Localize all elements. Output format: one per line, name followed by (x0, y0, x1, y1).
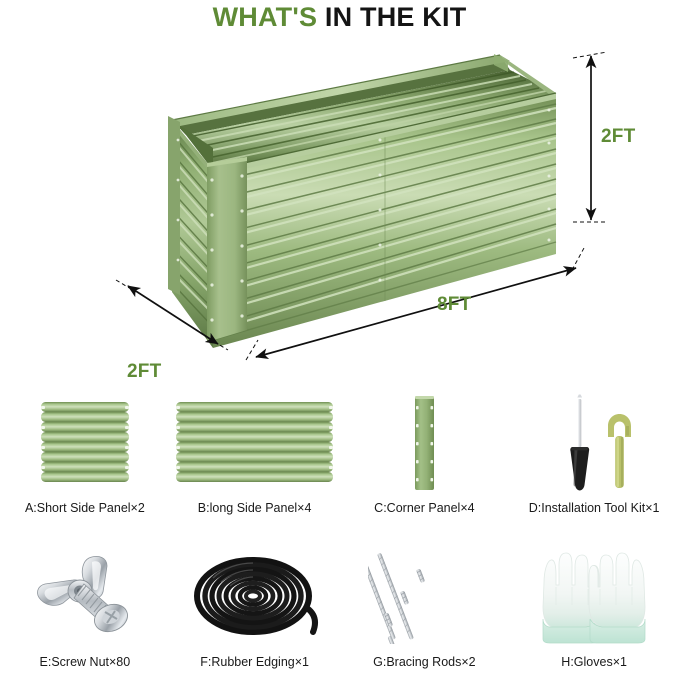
part-item-long-side-panel[interactable]: B:long Side Panel×4 (170, 388, 340, 518)
product-illustration: 2FT 8FT 2FT (0, 30, 679, 385)
corner-post-front-left (207, 157, 247, 342)
parts-row-1: A:Short Side Panel×2 (0, 388, 679, 518)
screw-nut-icon (0, 540, 170, 651)
gloves-icon (509, 540, 679, 651)
rod-long-2 (377, 552, 414, 639)
long-side-panel-icon (170, 388, 340, 497)
page-title: WHAT'S IN THE KIT (0, 2, 679, 33)
part-item-rubber-edging[interactable]: F:Rubber Edging×1 (170, 540, 340, 673)
part-label-rubber-edging: F:Rubber Edging×1 (200, 651, 309, 670)
rubber-edging-icon (170, 540, 340, 651)
part-item-screw-nut[interactable]: E:Screw Nut×80 (0, 540, 170, 673)
part-item-gloves[interactable]: H:Gloves×1 (509, 540, 679, 673)
part-label-short-side-panel: A:Short Side Panel×2 (25, 497, 145, 516)
part-item-corner-panel[interactable]: C:Corner Panel×4 (340, 388, 510, 518)
part-item-installation-tool-kit[interactable]: D:Installation Tool Kit×1 (509, 388, 679, 518)
corner-panel-icon (340, 388, 510, 497)
part-item-bracing-rods[interactable]: G:Bracing Rods×2 (340, 540, 510, 673)
glove-right (589, 553, 645, 643)
bracing-rods-icon (340, 540, 510, 651)
dimension-label-depth: 2FT (127, 361, 161, 383)
part-label-long-side-panel: B:long Side Panel×4 (198, 497, 312, 516)
short-side-panel-icon (0, 388, 170, 497)
page-title-highlight: WHAT'S (213, 2, 325, 32)
part-item-short-side-panel[interactable]: A:Short Side Panel×2 (0, 388, 170, 518)
corner-post-back-left (168, 116, 180, 295)
page-title-rest: IN THE KIT (325, 2, 467, 32)
part-label-gloves: H:Gloves×1 (561, 651, 627, 670)
installation-tool-kit-icon (509, 388, 679, 497)
parts-row-2: E:Screw Nut×80 (0, 540, 679, 673)
part-label-installation-tool-kit: D:Installation Tool Kit×1 (529, 497, 660, 516)
part-label-corner-panel: C:Corner Panel×4 (374, 497, 474, 516)
part-label-screw-nut: E:Screw Nut×80 (40, 651, 131, 670)
dimension-label-height: 2FT (601, 126, 635, 148)
wrench-icon (608, 414, 631, 488)
dimension-label-length: 8FT (437, 294, 471, 316)
screwdriver-icon (570, 394, 589, 490)
part-label-bracing-rods: G:Bracing Rods×2 (373, 651, 475, 670)
